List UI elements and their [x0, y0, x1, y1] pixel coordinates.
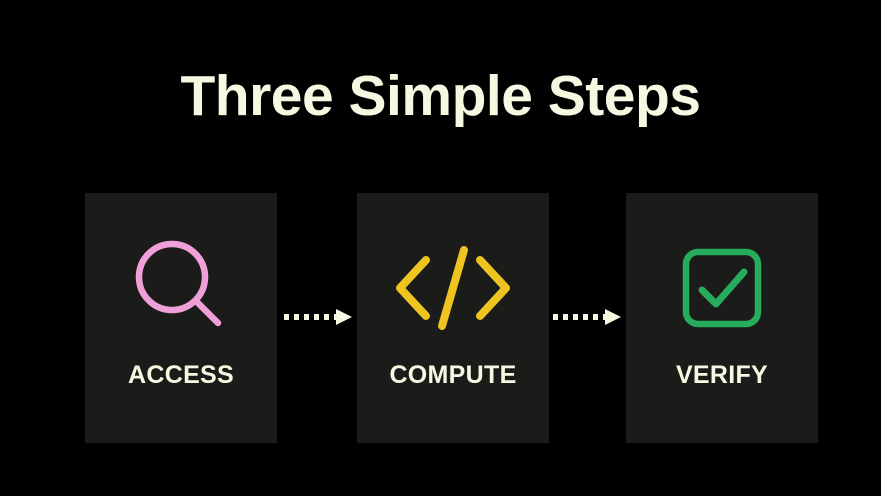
magnifying-glass-icon: [85, 213, 277, 363]
step-label-compute: COMPUTE: [357, 361, 549, 390]
step-label-access: ACCESS: [85, 361, 277, 390]
step-label-verify: VERIFY: [626, 361, 818, 390]
code-brackets-icon: [357, 213, 549, 363]
arrow-access-to-compute-icon: [282, 306, 354, 328]
step-card-compute[interactable]: COMPUTE: [357, 193, 549, 443]
step-card-access[interactable]: ACCESS: [85, 193, 277, 443]
slide-canvas: Three Simple Steps ACCESS COMPUTE: [0, 0, 881, 496]
step-card-verify[interactable]: VERIFY: [626, 193, 818, 443]
page-title: Three Simple Steps: [0, 66, 881, 128]
steps-row: ACCESS COMPUTE VERIFY: [0, 193, 881, 443]
arrow-compute-to-verify-icon: [551, 306, 623, 328]
checkbox-check-icon: [626, 213, 818, 363]
